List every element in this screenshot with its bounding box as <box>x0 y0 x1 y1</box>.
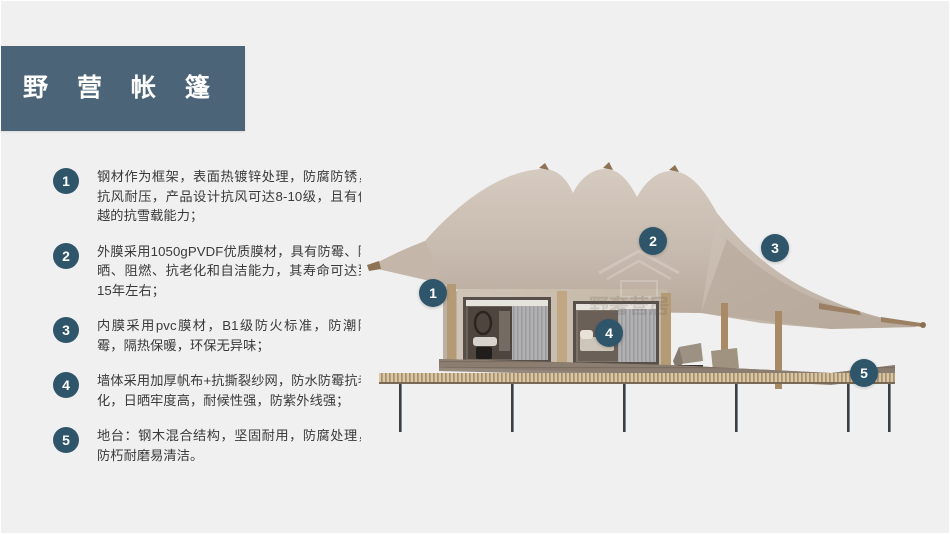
corner-post-center <box>557 291 567 369</box>
corner-post-right <box>661 293 671 369</box>
title-banner: 野 营 帐 篷 <box>1 46 245 131</box>
photo-callout-3: 3 <box>761 234 789 262</box>
feature-badge-3: 3 <box>53 317 79 343</box>
feature-text-4: 墙体采用加厚帆布+抗撕裂纱网，防水防霉抗老化，日晒牢度高，耐候性强，防紫外线强； <box>97 371 371 410</box>
shower-panel <box>499 311 510 351</box>
list-item: 4 墙体采用加厚帆布+抗撕裂纱网，防水防霉抗老化，日晒牢度高，耐候性强，防紫外线… <box>53 371 371 410</box>
photo-callout-4: 4 <box>595 319 623 347</box>
list-item: 5 地台：钢木混合结构，坚固耐用，防腐处理，防朽耐磨易清洁。 <box>53 426 371 465</box>
corner-post-left <box>447 284 456 368</box>
bed-pillow <box>580 330 593 339</box>
deck-leg-3 <box>623 384 626 432</box>
deck-leg-2 <box>511 384 514 432</box>
curtain-right-window <box>618 309 656 362</box>
photo-callout-5: 5 <box>850 359 878 387</box>
window-left-valance <box>466 300 548 306</box>
vanity-base <box>476 347 492 359</box>
photo-callout-1: 1 <box>419 279 447 307</box>
photo-callout-2: 2 <box>639 227 667 255</box>
feature-badge-2: 2 <box>53 243 79 269</box>
feature-badge-4: 4 <box>53 372 79 398</box>
deck-fascia-shadow <box>379 382 895 384</box>
page-title: 野 营 帐 篷 <box>23 76 221 101</box>
deck-leg-1 <box>399 384 402 432</box>
feature-text-2: 外膜采用1050gPVDF优质膜材，具有防霉、防晒、阻燃、抗老化和自洁能力，其寿… <box>97 242 371 301</box>
deck-leg-6 <box>888 384 891 432</box>
slide-root: 野 营 帐 篷 1 钢材作为框架，表面热镀锌处理，防腐防锈，抗风耐压，产品设计抗… <box>0 0 950 534</box>
sink-basin <box>473 337 497 346</box>
feature-badge-5: 5 <box>53 427 79 453</box>
deck-fascia <box>379 373 895 382</box>
list-item: 1 钢材作为框架，表面热镀锌处理，防腐防锈，抗风耐压，产品设计抗风可达8-10级… <box>53 167 371 226</box>
list-item: 3 内膜采用pvc膜材，B1级防火标准，防潮防霉，隔热保暖，环保无异味； <box>53 316 371 355</box>
curtain-left-window <box>512 306 548 360</box>
deck-leg-4 <box>735 384 738 432</box>
tent-product-image <box>361 151 941 451</box>
feature-badge-1: 1 <box>53 168 79 194</box>
list-item: 2 外膜采用1050gPVDF优质膜材，具有防霉、防晒、阻燃、抗老化和自洁能力，… <box>53 242 371 301</box>
feature-text-1: 钢材作为框架，表面热镀锌处理，防腐防锈，抗风耐压，产品设计抗风可达8-10级，且… <box>97 167 371 226</box>
deck-leg-5 <box>847 384 850 432</box>
feature-text-5: 地台：钢木混合结构，坚固耐用，防腐处理，防朽耐磨易清洁。 <box>97 426 371 465</box>
feature-text-3: 内膜采用pvc膜材，B1级防火标准，防潮防霉，隔热保暖，环保无异味； <box>97 316 371 355</box>
feature-list: 1 钢材作为框架，表面热镀锌处理，防腐防锈，抗风耐压，产品设计抗风可达8-10级… <box>53 167 371 481</box>
eave-cap-right <box>920 322 926 328</box>
